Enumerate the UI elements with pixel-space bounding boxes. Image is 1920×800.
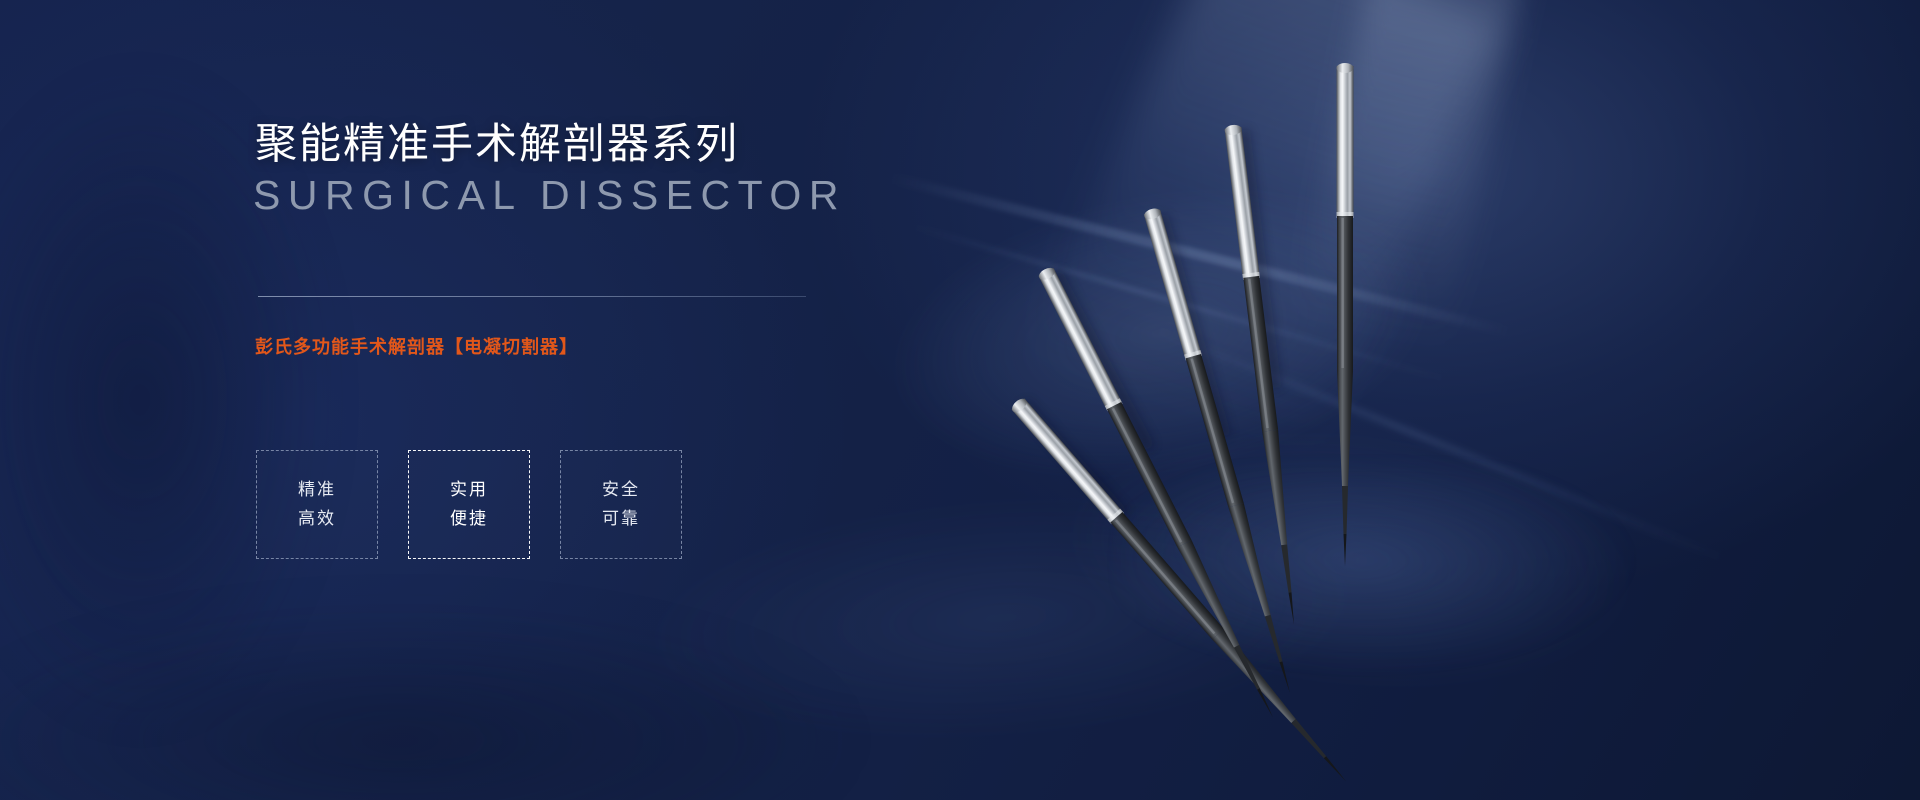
hero-copy: 聚能精准手术解剖器系列 SURGICAL DISSECTOR 彭氏多功能手术解剖…: [0, 0, 900, 800]
product-name-text: 彭氏多功能手术解剖器【电凝切割器】: [255, 338, 578, 356]
feature-badge-practical: 实用 便捷: [408, 450, 530, 559]
instrument-1: [1010, 396, 1353, 787]
feature-badge-precision: 精准 高效: [256, 450, 378, 559]
background-ghost-hand: [788, 57, 1611, 612]
instrument-5: [1337, 63, 1354, 566]
instrument-3: [1143, 207, 1298, 695]
background-glow-lower: [1120, 470, 1820, 770]
background-light-beam-2: [1288, 0, 1522, 391]
feature-badge-safety-line2: 可靠: [602, 505, 640, 533]
page-title: 聚能精准手术解剖器系列: [255, 123, 739, 165]
page-subtitle-english: SURGICAL DISSECTOR: [253, 175, 846, 216]
background-ghost-streak: [888, 173, 1511, 338]
instrument-4: [1224, 124, 1302, 625]
background-ghost-streak-2: [910, 223, 1450, 383]
feature-badge-safety: 安全 可靠: [560, 450, 682, 559]
product-hero-banner: 聚能精准手术解剖器系列 SURGICAL DISSECTOR 彭氏多功能手术解剖…: [0, 0, 1920, 800]
background-ghost-streak-3: [1151, 324, 1729, 564]
feature-badge-precision-line1: 精准: [298, 476, 336, 504]
background-light-beam: [999, 0, 1501, 537]
background-ghost-hand-2: [921, 318, 1778, 800]
feature-badge-practical-line2: 便捷: [450, 505, 488, 533]
title-divider: [258, 296, 806, 297]
feature-badge-precision-line2: 高效: [298, 505, 336, 533]
feature-badge-practical-line1: 实用: [450, 476, 488, 504]
feature-badge-list: 精准 高效 实用 便捷 安全 可靠: [256, 450, 682, 559]
instrument-2: [1037, 265, 1281, 721]
feature-badge-safety-line1: 安全: [602, 476, 640, 504]
